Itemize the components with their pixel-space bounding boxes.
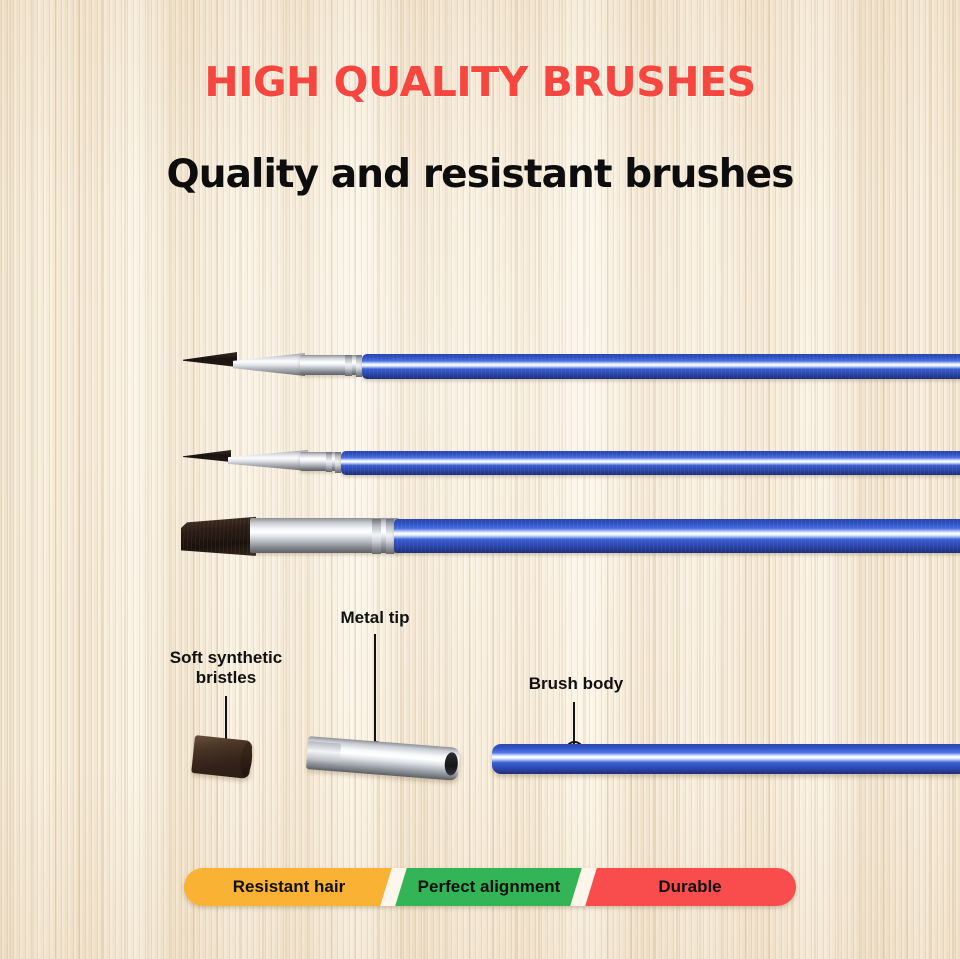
callout-label-metal-tip: Metal tip bbox=[305, 608, 445, 628]
ferrule-ring bbox=[372, 519, 381, 554]
page-subtitle: Quality and resistant brushes bbox=[0, 152, 960, 197]
feature-label: Durable bbox=[658, 877, 721, 897]
callout-line-brush-body bbox=[573, 702, 575, 746]
callout-line-bristles bbox=[225, 696, 227, 741]
feature-label: Perfect alignment bbox=[418, 877, 561, 897]
handle-part bbox=[492, 744, 960, 774]
background-vignette bbox=[0, 0, 960, 959]
infographic-canvas: HIGH QUALITY BRUSHES Quality and resista… bbox=[0, 0, 960, 959]
feature-bar: Resistant hair Perfect alignment Durable bbox=[184, 868, 796, 906]
brush-handle bbox=[362, 354, 960, 379]
feature-segment-perfect-alignment[interactable]: Perfect alignment bbox=[394, 868, 584, 906]
ferrule-ring bbox=[326, 452, 332, 472]
ferrule-ring bbox=[345, 355, 352, 376]
feature-label: Resistant hair bbox=[233, 877, 345, 897]
brush-handle bbox=[394, 519, 960, 553]
page-title: HIGH QUALITY BRUSHES bbox=[0, 58, 960, 106]
bristle-part bbox=[191, 735, 253, 779]
bristle-tip-icon bbox=[181, 516, 256, 556]
ferrule-part-flat-end bbox=[306, 741, 341, 767]
callout-line-metal-tip bbox=[374, 634, 376, 746]
brush-handle bbox=[341, 451, 960, 475]
feature-segment-resistant-hair[interactable]: Resistant hair bbox=[184, 868, 394, 906]
callout-label-brush-body: Brush body bbox=[500, 674, 652, 694]
feature-segment-durable[interactable]: Durable bbox=[584, 868, 796, 906]
ferrule-ring bbox=[386, 519, 394, 554]
callout-label-bristles: Soft synthetic bristles bbox=[150, 648, 302, 688]
